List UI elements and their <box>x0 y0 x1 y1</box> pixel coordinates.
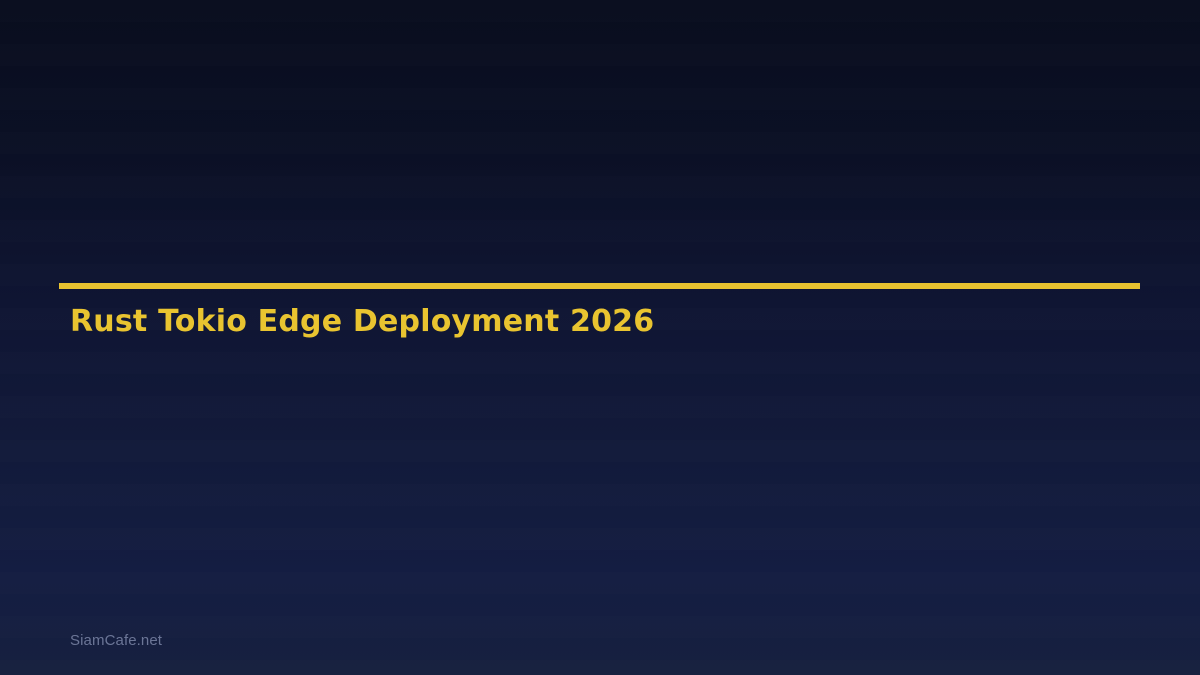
presentation-slide: Rust Tokio Edge Deployment 2026 SiamCafe… <box>0 0 1200 675</box>
footer-brand-label: SiamCafe.net <box>70 632 162 649</box>
footer: SiamCafe.net <box>70 630 162 650</box>
page-title: Rust Tokio Edge Deployment 2026 <box>59 289 1141 341</box>
title-block: Rust Tokio Edge Deployment 2026 <box>59 283 1141 341</box>
